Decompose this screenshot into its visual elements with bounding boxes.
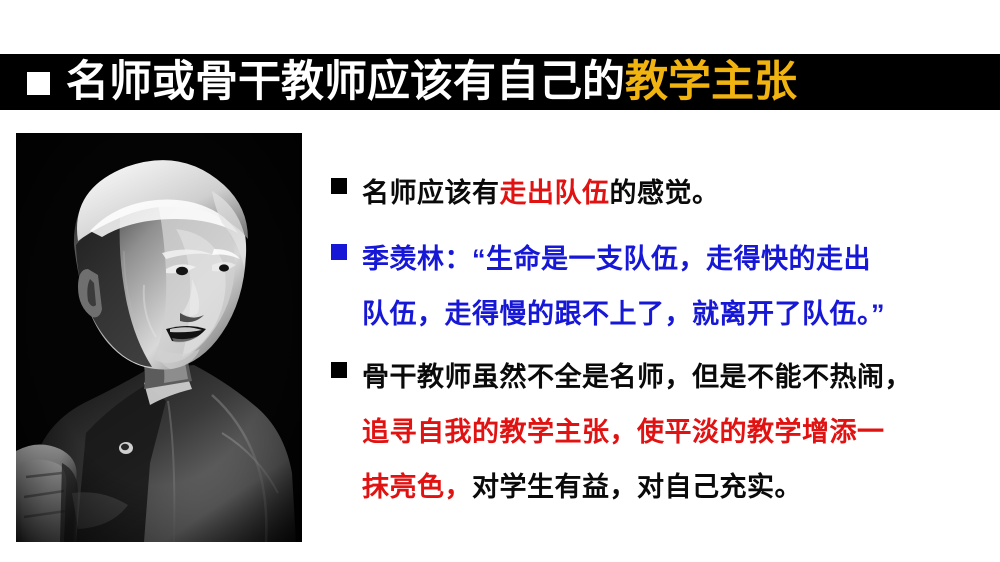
- bullet-text-segment-highlight: 抹亮色，: [362, 472, 472, 502]
- list-item: 季羡林：“生命是一支队伍，走得快的走出 队伍，走得慢的跟不上了，就离开了队伍。”: [331, 232, 991, 342]
- page-title: 名师或骨干教师应该有自己的教学主张: [66, 61, 797, 104]
- portrait-illustration: [16, 133, 302, 542]
- portrait-photo: [16, 133, 302, 542]
- slide-title-banner: 名师或骨干教师应该有自己的教学主张: [0, 54, 1000, 110]
- list-item: 名师应该有走出队伍的感觉。: [331, 166, 991, 221]
- bullet-line: 抹亮色，对学生有益，对自己充实。: [362, 460, 991, 515]
- bullet-text-segment: 的感觉。: [610, 178, 720, 208]
- bullet-line: 名师应该有走出队伍的感觉。: [362, 166, 991, 221]
- bullet-line: 骨干教师虽然不全是名师，但是不能不热闹，: [362, 350, 991, 405]
- list-item: 骨干教师虽然不全是名师，但是不能不热闹， 追寻自我的教学主张，使平淡的教学增添一…: [331, 350, 991, 515]
- black-square-bullet-icon: [331, 362, 347, 378]
- bullet-text-segment: 名师应该有: [362, 178, 500, 208]
- bullet-line: 队伍，走得慢的跟不上了，就离开了队伍。”: [362, 287, 991, 342]
- bullet-line: 季羡林：“生命是一支队伍，走得快的走出: [362, 232, 991, 287]
- presentation-slide: 名师或骨干教师应该有自己的教学主张: [0, 0, 1000, 562]
- title-highlight-text: 教学主张: [625, 58, 797, 106]
- black-square-bullet-icon: [331, 178, 347, 194]
- blue-square-bullet-icon: [331, 244, 347, 260]
- bullet-text-segment-highlight: 走出队伍: [500, 178, 610, 208]
- white-square-bullet-icon: [27, 72, 50, 95]
- bullet-text-segment: 对学生有益，对自己充实。: [472, 472, 802, 502]
- bullet-line: 追寻自我的教学主张，使平淡的教学增添一: [362, 405, 991, 460]
- bullet-list: 名师应该有走出队伍的感觉。 季羡林：“生命是一支队伍，走得快的走出 队伍，走得慢…: [331, 166, 991, 527]
- title-main-text: 名师或骨干教师应该有自己的: [66, 58, 625, 106]
